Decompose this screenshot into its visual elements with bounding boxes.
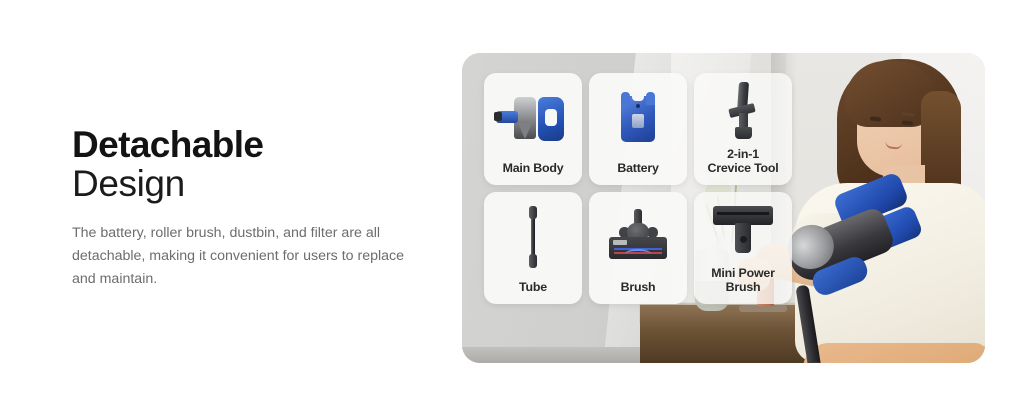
- card-label: Tube: [519, 281, 547, 295]
- card-label: Mini PowerBrush: [711, 267, 774, 295]
- card-label: 2-in-1Crevice Tool: [707, 148, 778, 176]
- vacuum-floor-head: [787, 361, 824, 363]
- extension-tube-icon: [484, 192, 582, 281]
- coaster: [739, 305, 787, 312]
- vacuum-wand: [795, 285, 821, 363]
- mini-power-brush-icon: [694, 192, 792, 267]
- body-description: The battery, roller brush, dustbin, and …: [72, 222, 412, 291]
- card-label: Battery: [617, 162, 658, 176]
- page-title: Detachable Design: [72, 126, 432, 202]
- copy-block: Detachable Design The battery, roller br…: [72, 126, 432, 291]
- battery-pack-icon: [589, 73, 687, 162]
- cordless-vacuum: [784, 181, 934, 363]
- headline-line-2: Design: [72, 165, 432, 202]
- card-brush[interactable]: Brush: [589, 192, 687, 304]
- detachable-design-banner: Detachable Design The battery, roller br…: [0, 0, 1024, 420]
- floor: [462, 347, 650, 363]
- card-tube[interactable]: Tube: [484, 192, 582, 304]
- card-mini-power-brush[interactable]: Mini PowerBrush: [694, 192, 792, 304]
- vacuum-main-body-icon: [484, 73, 582, 162]
- card-label: Brush: [621, 281, 656, 295]
- accessory-card-grid: Main Body Battery: [484, 73, 792, 304]
- roller-brush-icon: [589, 192, 687, 281]
- card-label: Main Body: [503, 162, 564, 176]
- card-main-body[interactable]: Main Body: [484, 73, 582, 185]
- headline-line-1: Detachable: [72, 126, 432, 163]
- crevice-tool-icon: [694, 73, 792, 148]
- lifestyle-panel: Main Body Battery: [462, 53, 985, 363]
- card-battery[interactable]: Battery: [589, 73, 687, 185]
- card-crevice-tool[interactable]: 2-in-1Crevice Tool: [694, 73, 792, 185]
